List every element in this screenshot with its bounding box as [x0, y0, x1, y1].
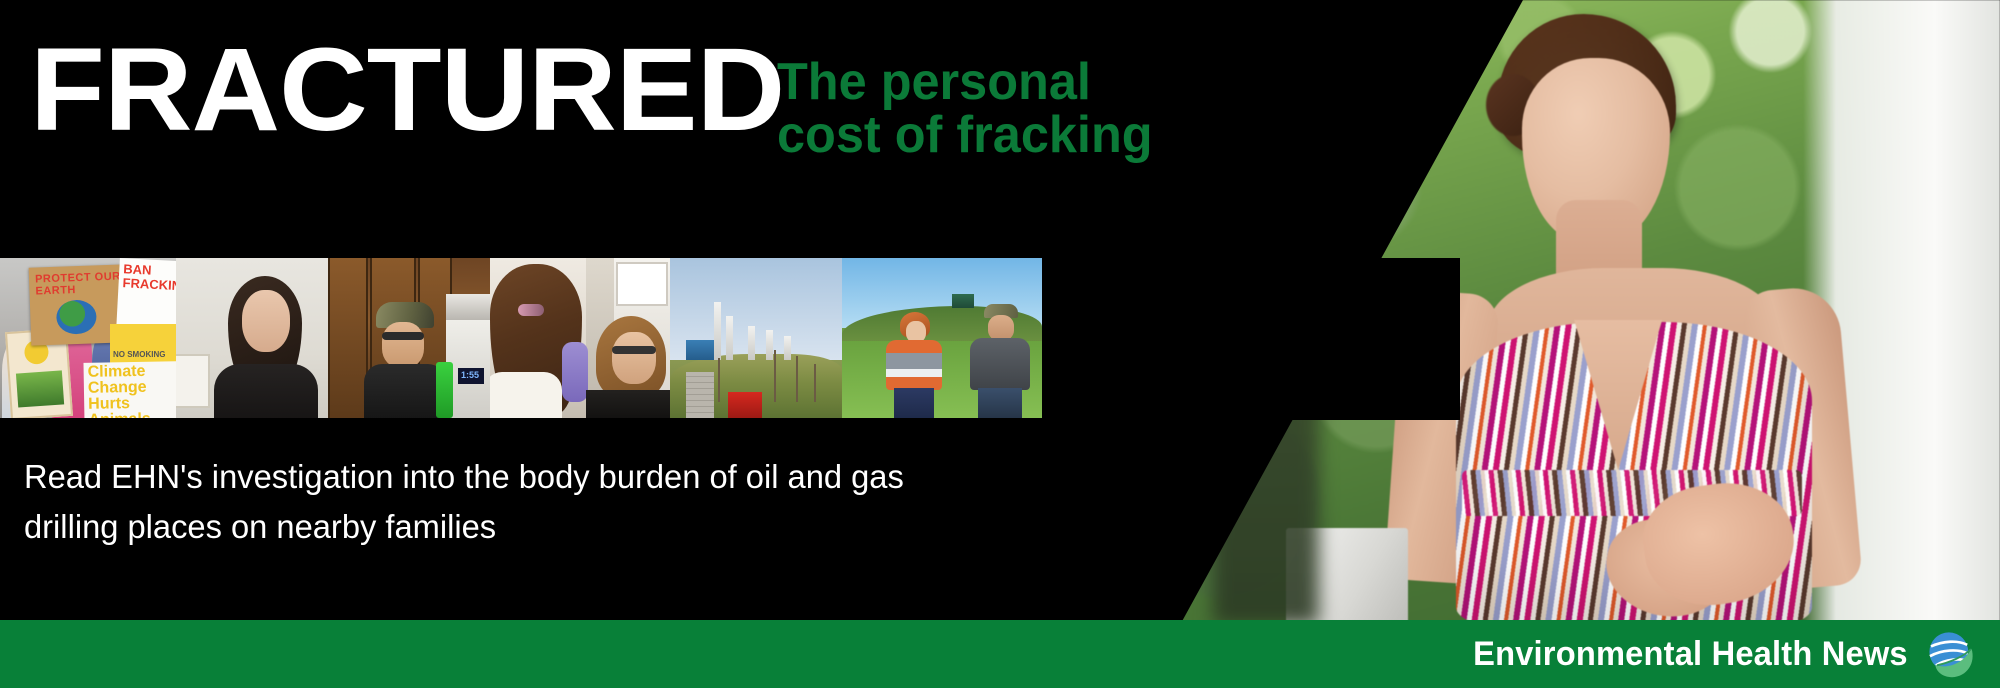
page-subtitle: The personal cost of fracking — [777, 56, 1194, 162]
man-figure — [364, 302, 446, 418]
gas-plant — [686, 302, 806, 360]
photo-man-kitchen: 1:55 — [328, 258, 490, 418]
man-face — [382, 322, 424, 368]
woman-face — [242, 290, 290, 352]
digital-clock: 1:55 — [458, 368, 484, 384]
boy-striped-shirt — [886, 340, 942, 390]
ehn-globe-leaf-logo[interactable] — [1924, 627, 1978, 681]
page-title: FRACTURED — [30, 36, 784, 145]
headline-row: FRACTURED The personal cost of fracking — [30, 36, 1207, 162]
man-figure-field — [970, 304, 1030, 418]
kitchen-cabinet-1 — [328, 258, 368, 418]
clock-reading: 1:55 — [461, 370, 479, 381]
woman-figure — [210, 276, 318, 418]
photo-boy-and-man-field — [842, 258, 1042, 418]
portrait-white-planter — [1286, 528, 1408, 625]
wall-picture-frame — [176, 354, 210, 408]
bare-tree-4 — [814, 364, 816, 402]
man-shorts — [978, 388, 1022, 418]
photo-protest-signs: PROTECT OUR EARTH BAN FRACKING NO SMOKIN… — [0, 258, 176, 418]
protest-sign-ban-fracking: BAN FRACKING — [116, 258, 176, 334]
body-copy: Read EHN's investigation into the body b… — [24, 452, 915, 552]
kitchen-range-hood — [446, 294, 490, 320]
distillation-tower-5 — [784, 336, 791, 360]
eyeglasses-icon — [382, 332, 424, 340]
protest-sign-climate-change: Climate Change Hurts Animals — [83, 361, 176, 418]
technician-face — [612, 332, 656, 384]
bare-tree-1 — [718, 358, 720, 402]
technician-black-top — [586, 390, 670, 418]
distillation-tower-1 — [714, 302, 721, 360]
sampling-window — [616, 262, 668, 306]
purple-glove — [562, 342, 588, 402]
woman-black-top — [214, 364, 318, 418]
protest-sign-text-3: NO SMOKING — [113, 350, 165, 359]
photo-hair-sampling — [490, 258, 670, 418]
photo-gas-facility — [670, 258, 842, 418]
boy-figure — [886, 312, 942, 418]
hair-tie — [518, 304, 544, 316]
technician-glasses-icon — [612, 346, 656, 354]
protest-sign-text-1: PROTECT OUR EARTH — [35, 270, 126, 297]
protest-sign-text-4: Climate Change Hurts Animals — [88, 363, 176, 418]
distillation-tower-3 — [748, 326, 755, 360]
protest-sign-text-2: BAN FRACKING — [122, 262, 176, 294]
red-equipment-box — [728, 392, 762, 418]
fractured-banner: FRACTURED The personal cost of fracking … — [0, 0, 2000, 688]
earth-doodle-icon — [56, 299, 97, 334]
brand-name: Environmental Health News — [1473, 635, 1908, 674]
bare-tree-2 — [774, 350, 776, 402]
green-cup — [436, 362, 453, 418]
bare-tree-3 — [796, 356, 798, 402]
man-grey-shirt — [970, 338, 1030, 390]
distillation-tower-2 — [726, 316, 733, 360]
retaining-wall — [686, 372, 714, 418]
boy-shorts — [894, 388, 934, 418]
man-black-shirt — [364, 364, 446, 418]
distillation-tower-4 — [766, 330, 773, 360]
photo-woman-black-top — [176, 258, 328, 418]
sampling-technician — [586, 316, 670, 418]
footer-bar: Environmental Health News — [0, 620, 2000, 688]
subject-shirt — [490, 372, 562, 418]
